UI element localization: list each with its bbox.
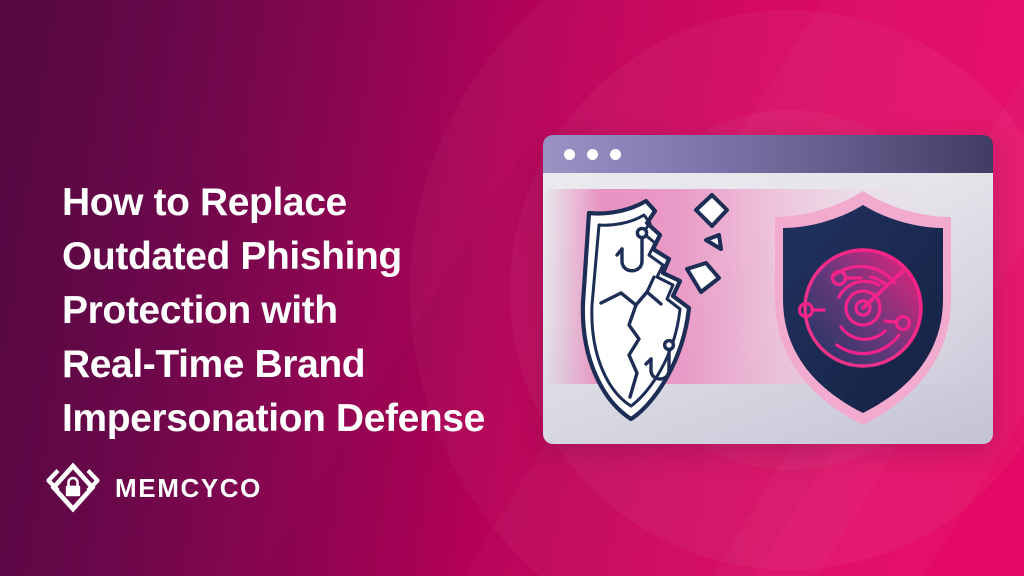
radar-shield-group (775, 191, 951, 425)
headline-line-1: How to Replace (62, 176, 532, 230)
security-illustration (543, 173, 993, 444)
shield-fragment-quad (687, 263, 719, 292)
headline-line-2: Outdated Phishing (62, 230, 532, 284)
headline-line-3: Protection with (62, 284, 532, 338)
window-dot-maximize-icon (610, 149, 621, 160)
banner-canvas: How to Replace Outdated Phishing Protect… (0, 0, 1024, 576)
window-dot-close-icon (564, 149, 575, 160)
browser-window-mockup (543, 135, 993, 444)
broken-shield-group (583, 195, 727, 419)
brand-wordmark: MEMCYCO (115, 473, 262, 504)
browser-content-area (543, 173, 993, 444)
headline-line-5: Impersonation Defense (62, 392, 532, 446)
memcyco-diamond-lock-icon (44, 462, 102, 514)
radar-node-link-right (885, 321, 896, 322)
shield-fragment-diamond (696, 195, 727, 226)
window-dot-minimize-icon (587, 149, 598, 160)
shield-fragment-small-triangle (706, 235, 721, 249)
page-title: How to Replace Outdated Phishing Protect… (62, 176, 532, 446)
brand-logo: MEMCYCO (44, 462, 262, 514)
headline-line-4: Real-Time Brand (62, 338, 532, 392)
browser-titlebar (543, 135, 993, 173)
